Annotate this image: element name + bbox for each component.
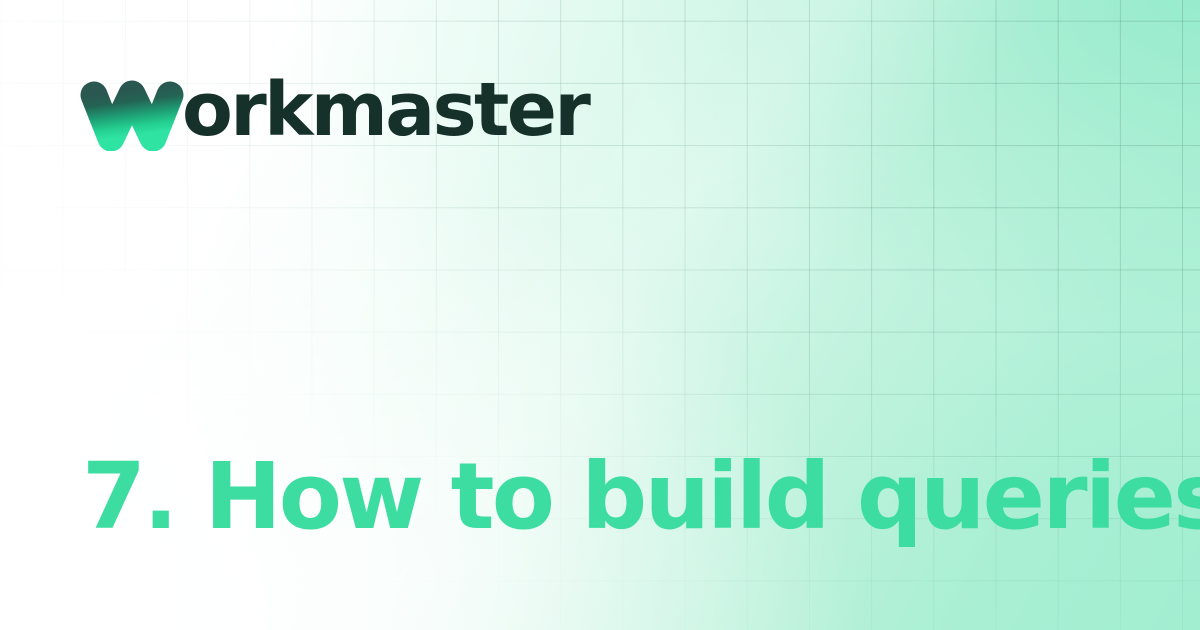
workmaster-wordmark: orkmaster xyxy=(182,73,588,149)
workmaster-w-mark-icon xyxy=(80,75,184,151)
page-title: 7. How to build queries xyxy=(82,448,1122,546)
title-card: orkmaster 7. How to build queries xyxy=(0,0,1200,630)
workmaster-logo: orkmaster xyxy=(80,68,588,154)
